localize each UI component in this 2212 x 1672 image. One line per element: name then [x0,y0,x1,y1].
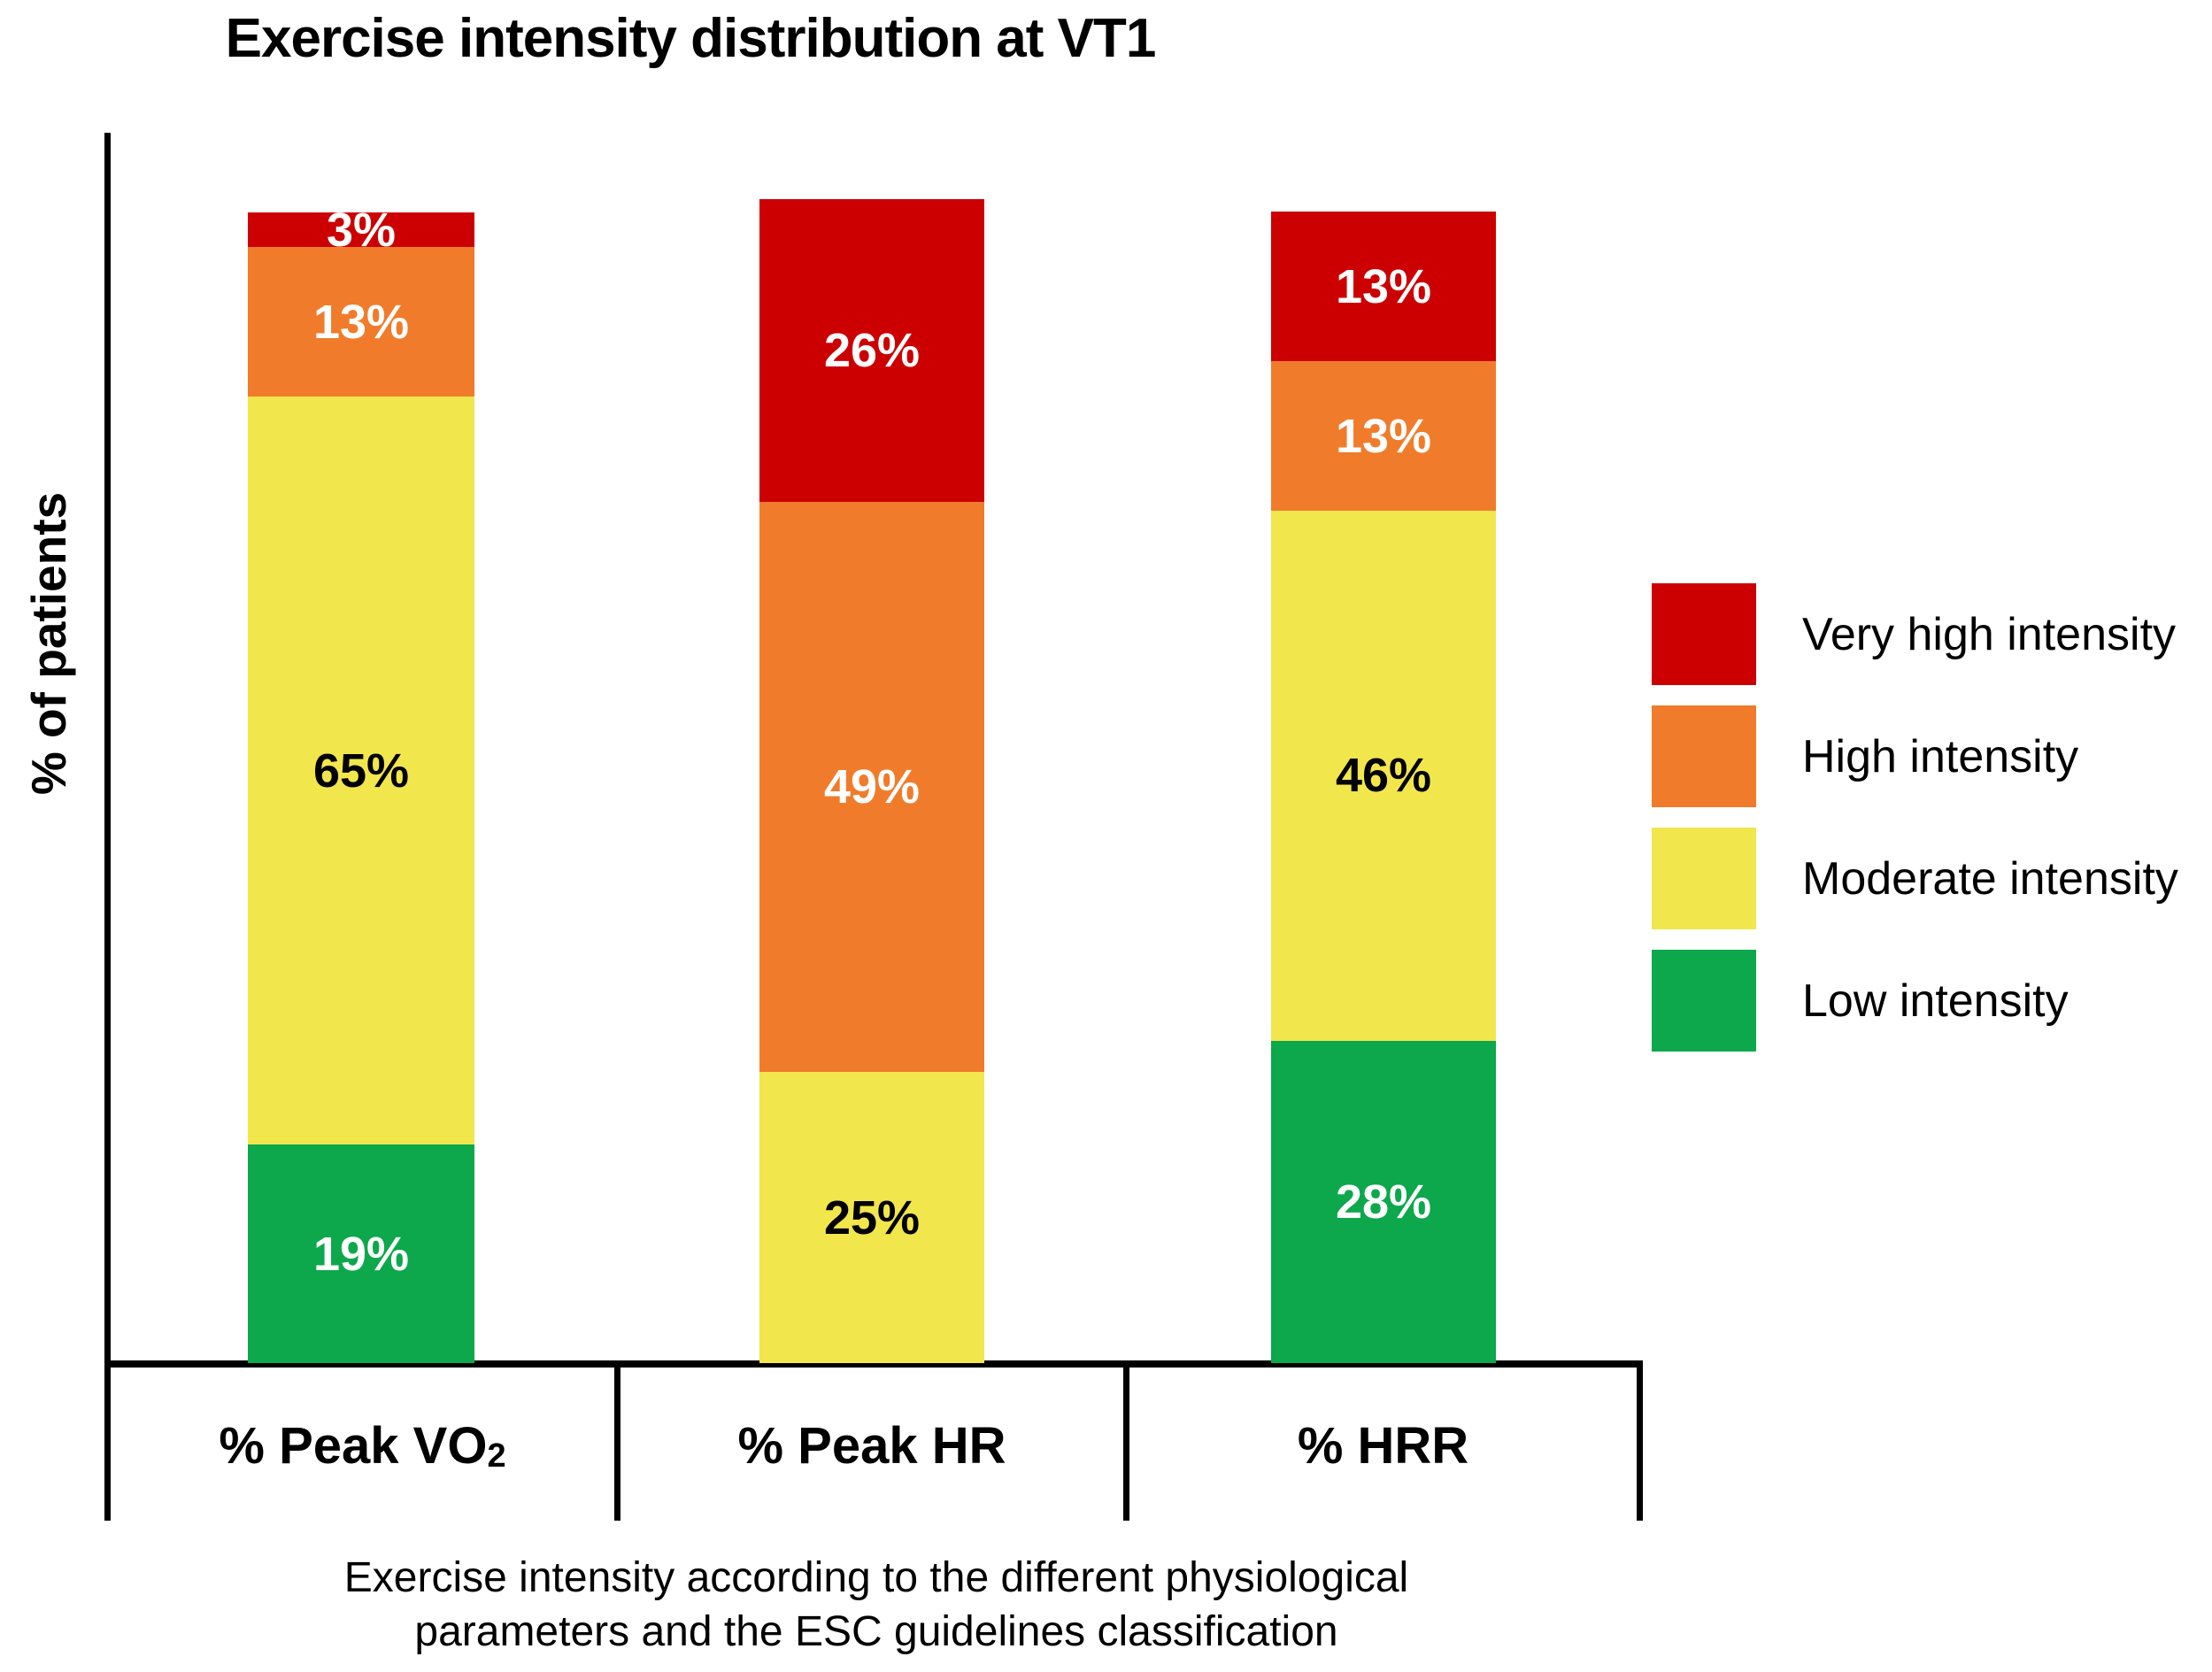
bar-segment-value-label: 28% [1336,1178,1431,1226]
bar-segment-value-label: 46% [1336,751,1431,799]
bar-segment-value-label: 49% [824,763,920,811]
bar-segment-value-label: 13% [313,298,409,346]
bar-segment-value-label: 13% [1336,263,1431,311]
legend-item-very-high-intensity[interactable]: Very high intensity [1652,583,2176,685]
bar-segment-value-label: 19% [313,1230,409,1278]
legend-swatch-icon [1652,950,1756,1052]
bar-segment[interactable]: 65% [248,397,474,1144]
x-tick-label-hrr: % HRR [1129,1406,1637,1485]
x-tick-label-text: % HRR [1298,1416,1468,1476]
x-axis-caption: Exercise intensity according to the diff… [106,1551,1646,1660]
legend-item-low-intensity[interactable]: Low intensity [1652,950,2069,1052]
category-divider-2 [1123,1368,1129,1521]
bar-segment[interactable]: 19% [248,1144,474,1363]
x-axis-caption-line-1: Exercise intensity according to the diff… [106,1551,1646,1605]
bar-segment-value-label: 13% [1336,412,1431,460]
bar-segment[interactable]: 13% [248,247,474,397]
legend-item-label: Low intensity [1802,975,2069,1028]
x-axis-caption-line-2: parameters and the ESC guidelines classi… [106,1605,1646,1659]
x-tick-label-peak-vo2: % Peak VO2 [111,1406,614,1485]
bar-segment[interactable]: 28% [1271,1041,1496,1363]
bar-segment-value-label: 26% [824,327,920,374]
bar-segment[interactable]: 26% [759,199,984,502]
chart-figure: Exercise intensity distribution at VT1 %… [0,0,2212,1672]
bar-segment-value-label: 65% [313,747,409,795]
legend-swatch-icon [1652,828,1756,929]
legend-item-label: High intensity [1802,730,2078,783]
legend-item-label: Very high intensity [1802,608,2176,661]
bar-segment[interactable]: 46% [1271,511,1496,1040]
legend-item-high-intensity[interactable]: High intensity [1652,705,2078,807]
category-divider-1 [614,1368,620,1521]
bar-segment[interactable]: 25% [759,1072,984,1363]
x-tick-label-text: % Peak HR [737,1416,1006,1476]
y-axis-label: % of patients [20,422,77,865]
bar-segment[interactable]: 3% [248,212,474,247]
legend-swatch-icon [1652,583,1756,685]
x-axis-right-end-tick [1637,1360,1643,1521]
y-axis-line [104,133,111,1521]
legend-item-label: Moderate intensity [1802,852,2178,905]
bar-segment[interactable]: 13% [1271,361,1496,511]
bar-segment[interactable]: 13% [1271,212,1496,361]
bar-segment-value-label: 25% [824,1194,920,1242]
x-tick-label-text: % Peak VO [219,1416,487,1476]
legend-swatch-icon [1652,705,1756,807]
x-tick-label-peak-hr: % Peak HR [620,1406,1123,1485]
bar-segment[interactable]: 49% [759,502,984,1072]
page-title: Exercise intensity distribution at VT1 [0,7,1381,70]
legend-item-moderate-intensity[interactable]: Moderate intensity [1652,828,2178,929]
x-tick-label-subscript: 2 [487,1437,505,1476]
